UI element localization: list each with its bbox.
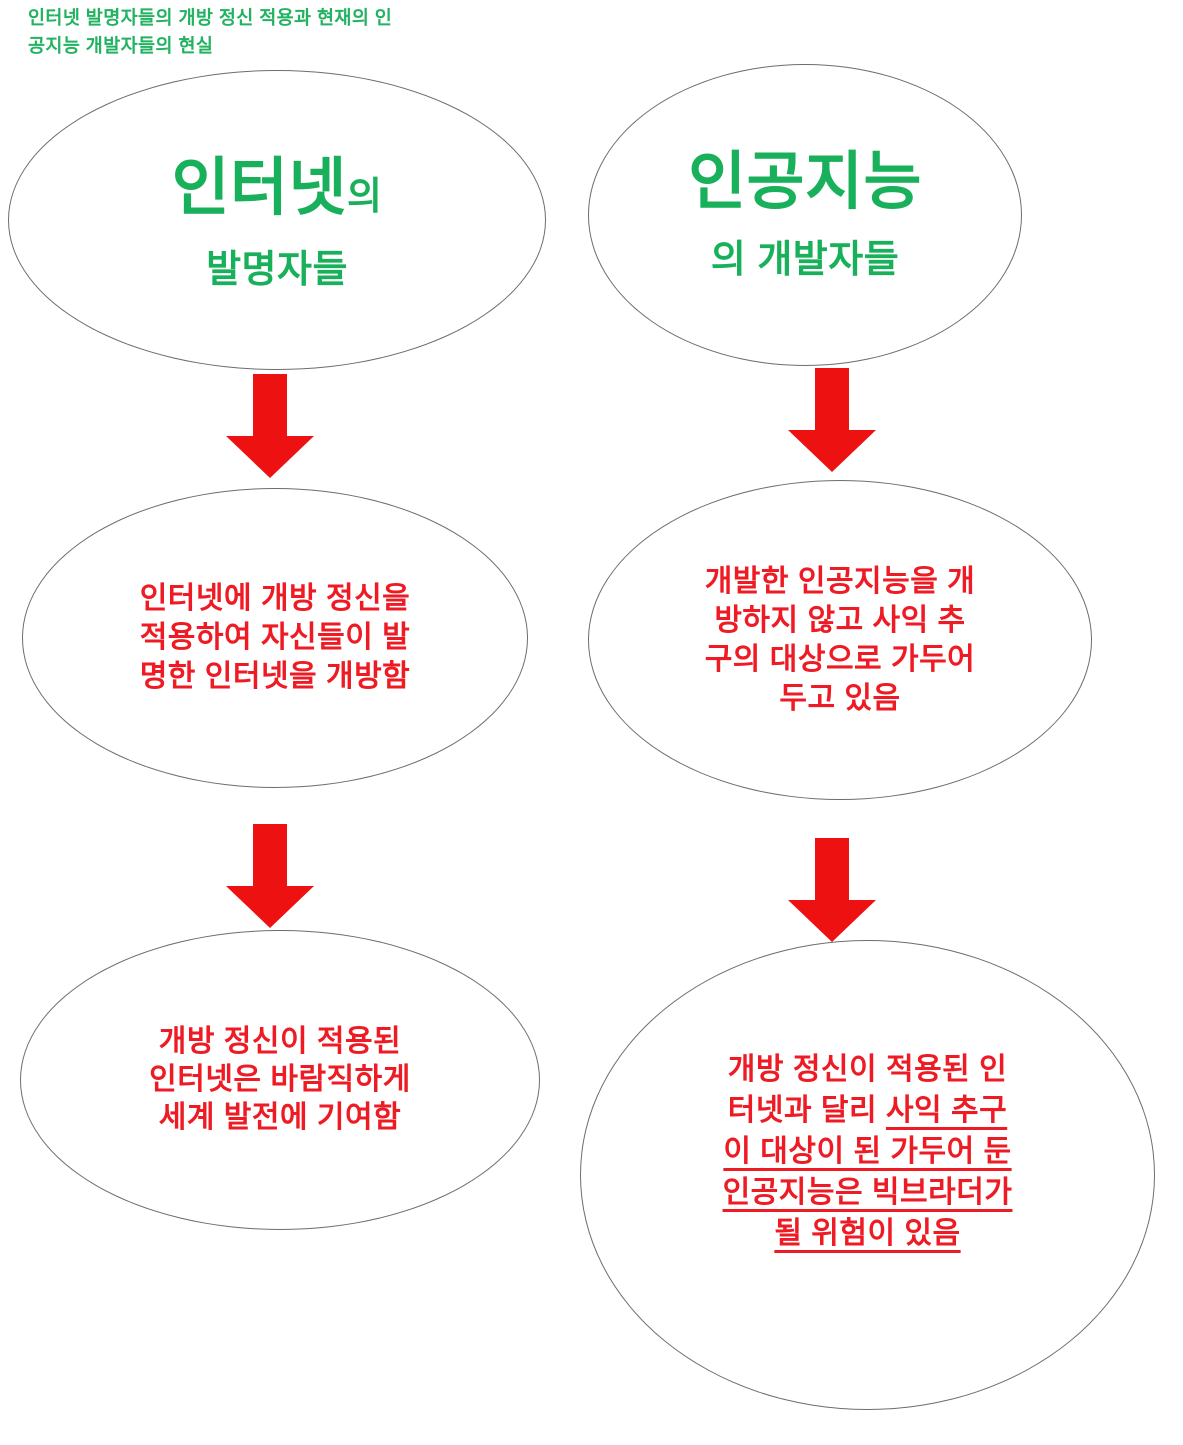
node-ai-result-line-1: 개방 정신이 적용된 인	[723, 1055, 1013, 1085]
node-ai-result-bigbrother[interactable]: 개방 정신이 적용된 인 터넷과 달리 사익 추구 이 대상이 된 가두어 둔 …	[580, 940, 1155, 1410]
node-ai-result-line-2-plain: 터넷과 달리	[728, 1094, 886, 1127]
node-internet-open-line-2: 적용하여 자신들이 발	[140, 623, 411, 653]
node-internet-inventors[interactable]: 인터넷의 발명자들	[8, 70, 546, 370]
node-ai-result-line-3: 이 대상이 된 가두어 둔	[723, 1137, 1013, 1167]
node-internet-inventors-line1: 인터넷의	[172, 155, 383, 221]
page-title: 인터넷 발명자들의 개방 정신 적용과 현재의 인 공지능 개발자들의 현실	[28, 4, 548, 60]
diagram-canvas: 인터넷 발명자들의 개방 정신 적용과 현재의 인 공지능 개발자들의 현실 인…	[0, 0, 1183, 1445]
node-ai-closed-line-1: 개발한 인공지능을 개	[705, 567, 976, 597]
down-arrow-icon	[226, 824, 314, 928]
node-ai-closed-line-2: 방하지 않고 사익 추	[705, 606, 976, 636]
node-ai-result-line-2: 터넷과 달리 사익 추구	[723, 1096, 1013, 1126]
node-ai-closed-line-4: 두고 있음	[705, 684, 976, 714]
node-internet-result[interactable]: 개방 정신이 적용된 인터넷은 바람직하게 세계 발전에 기여함	[20, 930, 540, 1230]
node-internet-inventors-line2: 발명자들	[172, 251, 383, 291]
node-internet-open-line-1: 인터넷에 개방 정신을	[140, 584, 411, 614]
down-arrow-icon	[788, 368, 876, 472]
down-arrow-icon	[788, 838, 876, 942]
node-internet-result-line-2: 인터넷은 바람직하게	[149, 1065, 411, 1095]
node-ai-closed-private[interactable]: 개발한 인공지능을 개 방하지 않고 사익 추 구의 대상으로 가두어 두고 있…	[588, 480, 1092, 800]
node-ai-developers[interactable]: 인공지능 의 개발자들	[588, 64, 1022, 366]
node-ai-result-line-4: 인공지능은 빅브라더가	[723, 1178, 1013, 1208]
down-arrow-icon	[226, 374, 314, 478]
node-internet-result-line-1: 개방 정신이 적용된	[149, 1027, 411, 1057]
node-internet-open-spirit[interactable]: 인터넷에 개방 정신을 적용하여 자신들이 발 명한 인터넷을 개방함	[22, 488, 528, 788]
node-ai-result-line-5: 될 위험이 있음	[723, 1219, 1013, 1249]
node-ai-developers-line1: 인공지능	[688, 149, 922, 215]
node-ai-developers-line2: 의 개발자들	[688, 241, 922, 281]
node-internet-result-line-3: 세계 발전에 기여함	[149, 1103, 411, 1133]
node-internet-inventors-line1-suffix: 의	[347, 176, 382, 218]
node-internet-open-line-3: 명한 인터넷을 개방함	[140, 662, 411, 692]
node-ai-closed-line-3: 구의 대상으로 가두어	[705, 645, 976, 675]
node-ai-result-line-2-emphasis: 사익 추구	[886, 1094, 1007, 1127]
